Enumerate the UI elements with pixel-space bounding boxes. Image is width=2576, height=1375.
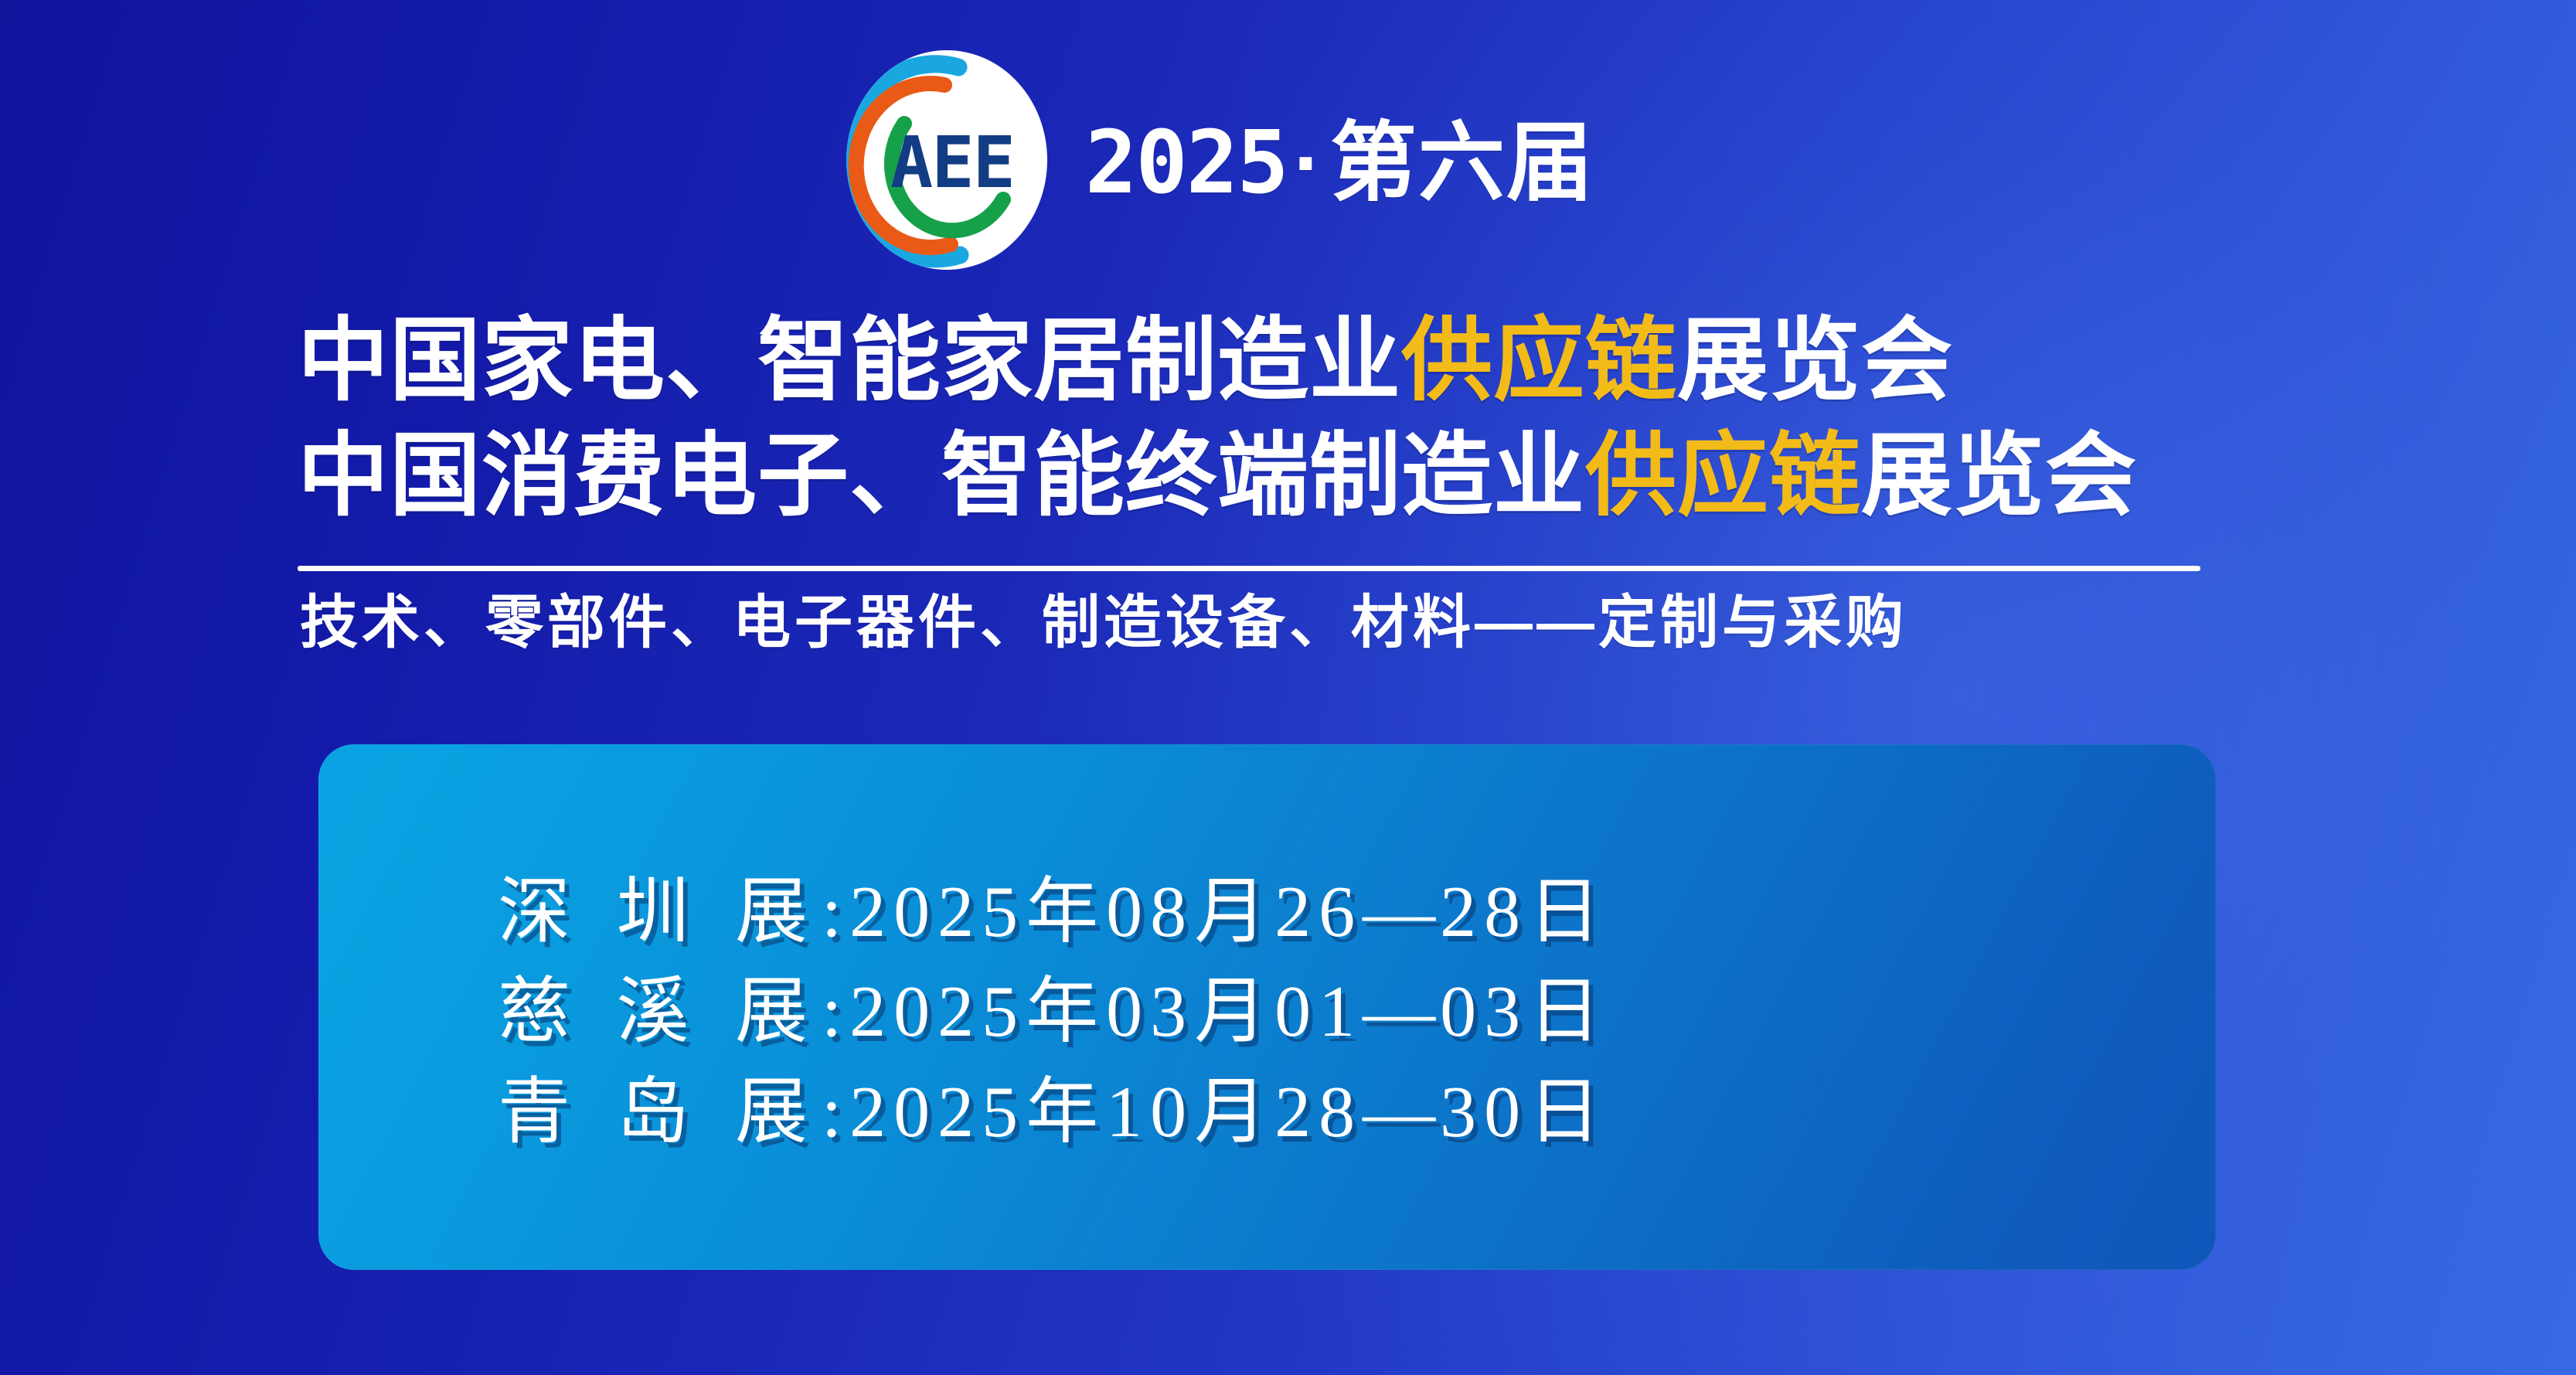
date-colon-shenzhen: : <box>822 872 849 952</box>
date-city-qingdao: 青 岛 展 <box>498 1072 822 1152</box>
date-day-start-qingdao: 28 <box>1274 1072 1363 1152</box>
headline-line-2: 中国消费电子、智能终端制造业供应链展览会 <box>298 420 2207 533</box>
poster-banner: AEE 2025·第六届 中国家电、智能家居制造业供应链展览会 中国消费电子、智… <box>0 0 2576 1375</box>
headline-2-highlight: 供应链 <box>1585 425 1861 527</box>
date-day-unit-shenzhen: 日 <box>1528 872 1608 952</box>
date-month-cixi: 03 <box>1106 972 1194 1052</box>
date-range-separator-cixi: — <box>1363 972 1440 1052</box>
date-month-shenzhen: 08 <box>1106 872 1194 952</box>
date-row-shenzhen: 深 圳 展:2025年08月26—28日 <box>498 873 2185 952</box>
date-month-unit-shenzhen: 月 <box>1194 872 1274 952</box>
aee-logo-icon: AEE <box>842 48 1051 272</box>
date-range-separator-qingdao: — <box>1363 1072 1440 1152</box>
date-day-start-shenzhen: 26 <box>1274 872 1363 952</box>
headline-2-before: 中国消费电子、智能终端制造业 <box>298 425 1585 527</box>
date-year-unit-shenzhen: 年 <box>1026 872 1106 952</box>
date-year-unit-qingdao: 年 <box>1026 1072 1106 1152</box>
date-city-cixi: 慈 溪 展 <box>498 972 822 1052</box>
aee-logo-wordmark: AEE <box>890 121 1014 204</box>
headline-1-highlight: 供应链 <box>1401 310 1677 412</box>
edition-label: 2025·第六届 <box>1085 120 1594 206</box>
date-day-end-cixi: 03 <box>1440 972 1528 1052</box>
edition-ordinal: 第六届 <box>1330 114 1594 211</box>
headline-block: 中国家电、智能家居制造业供应链展览会 中国消费电子、智能终端制造业供应链展览会 <box>298 305 2207 533</box>
date-month-qingdao: 10 <box>1106 1072 1194 1152</box>
date-row-cixi: 慈 溪 展:2025年03月01—03日 <box>498 973 2185 1052</box>
date-row-qingdao: 青 岛 展:2025年10月28—30日 <box>498 1074 2185 1152</box>
date-colon-qingdao: : <box>822 1072 849 1152</box>
date-day-start-cixi: 01 <box>1274 972 1363 1052</box>
date-year-cixi: 2025 <box>849 972 1026 1052</box>
headline-divider <box>298 566 2200 571</box>
edition-separator: · <box>1288 114 1330 211</box>
date-day-end-shenzhen: 28 <box>1440 872 1528 952</box>
date-range-separator-shenzhen: — <box>1363 872 1440 952</box>
headline-1-before: 中国家电、智能家居制造业 <box>298 310 1401 412</box>
date-day-end-qingdao: 30 <box>1440 1072 1528 1152</box>
exhibition-dates-panel: 深 圳 展:2025年08月26—28日 慈 溪 展:2025年03月01—03… <box>318 744 2216 1270</box>
date-colon-cixi: : <box>822 972 849 1052</box>
exhibition-dates-list: 深 圳 展:2025年08月26—28日 慈 溪 展:2025年03月01—03… <box>498 781 2185 1244</box>
date-day-unit-cixi: 日 <box>1528 972 1608 1052</box>
headline-line-1: 中国家电、智能家居制造业供应链展览会 <box>298 305 2207 417</box>
date-year-unit-cixi: 年 <box>1026 972 1106 1052</box>
date-month-unit-qingdao: 月 <box>1194 1072 1274 1152</box>
date-year-shenzhen: 2025 <box>849 872 1026 952</box>
edition-year: 2025 <box>1085 113 1288 213</box>
headline-2-after: 展览会 <box>1861 425 2137 527</box>
date-city-shenzhen: 深 圳 展 <box>498 872 822 952</box>
subtitle-text: 技术、零部件、电子器件、制造设备、材料——定制与采购 <box>300 587 2209 657</box>
date-day-unit-qingdao: 日 <box>1528 1072 1608 1152</box>
date-month-unit-cixi: 月 <box>1194 972 1274 1052</box>
date-year-qingdao: 2025 <box>849 1072 1026 1152</box>
headline-1-after: 展览会 <box>1677 310 1953 412</box>
brand-header: AEE 2025·第六届 <box>842 48 1594 272</box>
